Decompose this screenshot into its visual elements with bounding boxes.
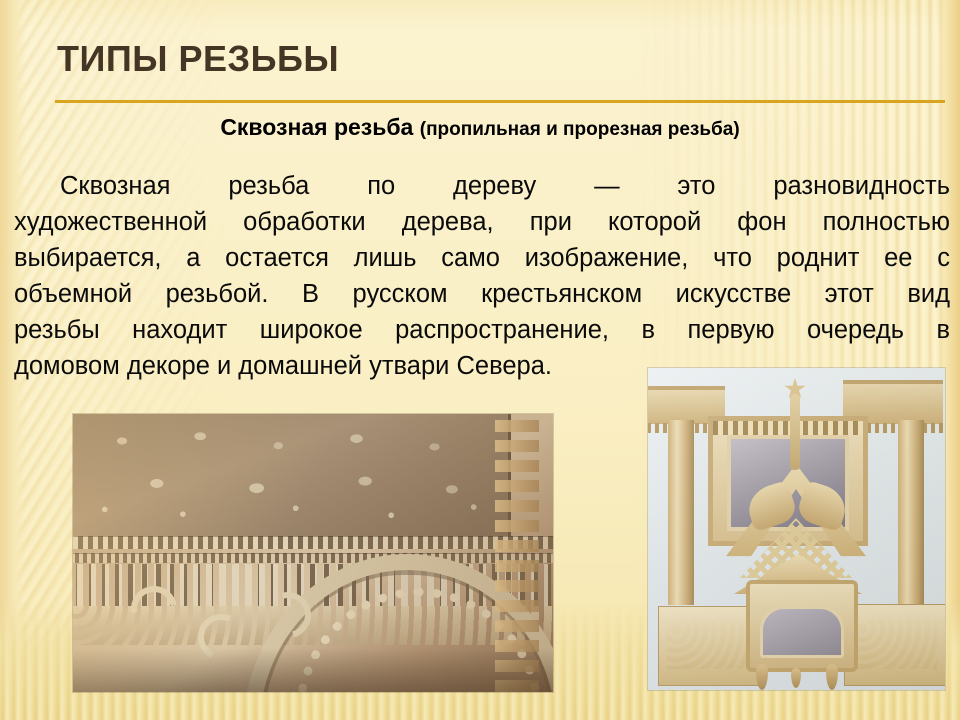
title-divider-rule: [55, 100, 945, 103]
left-turned-column: [668, 420, 694, 605]
body-line-1: Сквозная резьба по дереву — это разновид…: [14, 168, 950, 204]
crest-spire: [790, 390, 800, 470]
window-finial-center: [791, 668, 801, 688]
body-line-3: выбирается, а остается лишь само изображ…: [14, 240, 950, 276]
window-finial-right: [826, 664, 838, 690]
right-turned-column: [898, 420, 924, 605]
bead-course-lower: [73, 553, 553, 563]
left-pedestal-fretwork: [667, 621, 751, 669]
right-pedestal-balustrade: [844, 604, 945, 686]
body-line-5: резьбы находит широкое распространение, …: [14, 312, 950, 348]
carved-architecture-plate-illustration: [648, 368, 945, 690]
left-pedestal-balustrade: [658, 606, 760, 686]
body-paragraph: Сквозная резьба по дереву — это разновид…: [14, 168, 950, 384]
body-line-4: объемной резьбой. В русском крестьянском…: [14, 276, 950, 312]
bead-course-upper: [73, 536, 553, 549]
photo-bottom-shadow: [73, 648, 553, 692]
window-frieze-pattern: [713, 421, 863, 435]
slide-canvas: ТИПЫ РЕЗЬБЫ Сквозная резьба (пропильная …: [0, 0, 960, 720]
lower-window-glass: [760, 606, 844, 658]
window-finial-left: [756, 664, 768, 690]
slide-title: ТИПЫ РЕЗЬБЫ: [57, 38, 339, 80]
right-pedestal-fretwork: [853, 619, 937, 669]
panel-scrollwork: [73, 415, 504, 532]
wooden-fretwork-facade-photo: [73, 414, 553, 692]
lower-window-frame: [746, 580, 858, 672]
subtitle-main-text: Сквозная резьба: [220, 114, 419, 140]
slide-subtitle: Сквозная резьба (пропильная и прорезная …: [0, 114, 960, 141]
carved-panel: [73, 414, 511, 540]
body-line-2: художественной обработки дерева, при кот…: [14, 204, 950, 240]
subtitle-paren-text: (пропильная и прорезная резьба): [420, 119, 740, 140]
facade-photo-artwork: [73, 414, 553, 692]
